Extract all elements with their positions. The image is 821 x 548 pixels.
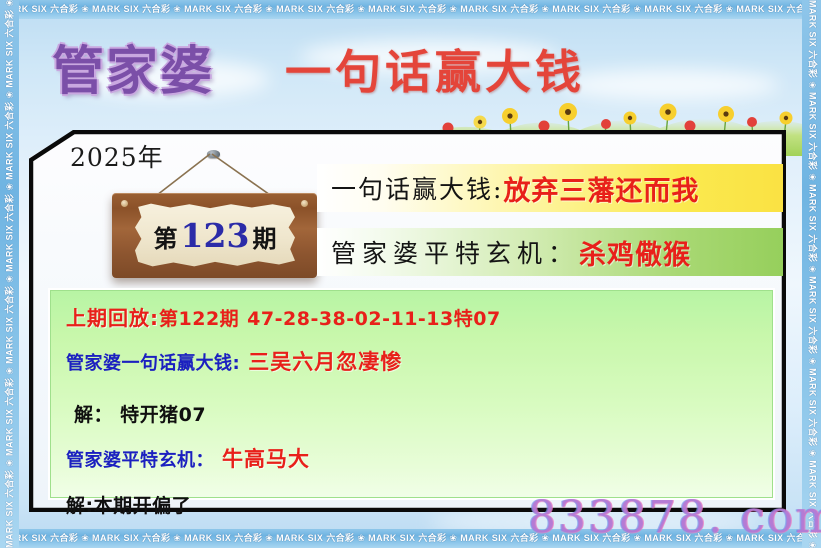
- border-text: MARK SIX 六合彩 ❀ MARK SIX 六合彩 ❀ MARK SIX 六…: [0, 0, 19, 548]
- xuanji-row: 管家婆平特玄机： 牛高马大: [66, 443, 773, 473]
- issue-number-label: 第123期: [154, 219, 277, 252]
- border-strip-left: MARK SIX 六合彩 ❀ MARK SIX 六合彩 ❀ MARK SIX 六…: [0, 0, 19, 548]
- sign-paper: 第123期: [135, 203, 295, 267]
- phrase-label: 管家婆一句话赢大钱:: [66, 349, 240, 375]
- issue-prefix: 第: [154, 224, 178, 253]
- border-text: MARK SIX 六合彩 ❀ MARK SIX 六合彩 ❀ MARK SIX 六…: [802, 0, 821, 548]
- issue-number: 123: [178, 216, 253, 255]
- border-text: MARK SIX 六合彩 ❀ MARK SIX 六合彩 ❀ MARK SIX 六…: [0, 533, 821, 543]
- solution-1-text: 解： 特开猪07: [74, 400, 206, 427]
- issue-suffix: 期: [252, 224, 276, 253]
- banner-green-label: 管家婆平特玄机：: [331, 234, 579, 270]
- recap-issue: 第122期: [159, 304, 239, 331]
- poster-root: MARK SIX 六合彩 ❀ MARK SIX 六合彩 ❀ MARK SIX 六…: [0, 0, 821, 548]
- solution-2-text: 解:本期开偏了: [66, 491, 191, 518]
- cloud-decoration: [560, 70, 780, 100]
- previous-results-box: 上期回放: 第122期 47-28-38-02-11-13 特 07 管家婆一句…: [48, 288, 775, 500]
- recap-special-number: 07: [473, 308, 500, 330]
- banner-phrase-of-the-day: 一句话赢大钱: 放弃三藩还而我: [317, 164, 783, 212]
- banner-green-answer: 杀鸡儆猴: [579, 233, 691, 272]
- brand-title: 管家婆: [52, 29, 214, 104]
- sign-hole-left-icon: [121, 200, 128, 207]
- wooden-sign: 第123期: [112, 193, 317, 278]
- banner-yellow-label: 一句话赢大钱:: [331, 170, 503, 206]
- recap-row: 上期回放: 第122期 47-28-38-02-11-13 特 07: [66, 302, 773, 331]
- solution-row-1: 解： 特开猪07: [66, 400, 773, 427]
- phrase-row: 管家婆一句话赢大钱: 三吴六月忽凄惨: [66, 346, 773, 376]
- banner-pingte-xuanji: 管家婆平特玄机： 杀鸡儆猴: [317, 228, 783, 276]
- border-strip-top: MARK SIX 六合彩 ❀ MARK SIX 六合彩 ❀ MARK SIX 六…: [0, 0, 821, 19]
- border-strip-bottom: MARK SIX 六合彩 ❀ MARK SIX 六合彩 ❀ MARK SIX 六…: [0, 529, 821, 548]
- phrase-value: 三吴六月忽凄惨: [248, 346, 402, 376]
- solution-row-2: 解:本期开偏了: [66, 491, 773, 518]
- recap-label: 上期回放:: [66, 302, 159, 331]
- sign-hole-right-icon: [301, 200, 308, 207]
- xuanji-value: 牛高马大: [222, 443, 310, 473]
- border-strip-right: MARK SIX 六合彩 ❀ MARK SIX 六合彩 ❀ MARK SIX 六…: [802, 0, 821, 548]
- xuanji-label: 管家婆平特玄机：: [66, 446, 214, 472]
- recap-special-label: 特: [454, 304, 474, 331]
- recap-numbers: 47-28-38-02-11-13: [247, 308, 454, 330]
- slogan-title: 一句话赢大钱: [285, 36, 585, 102]
- border-text: MARK SIX 六合彩 ❀ MARK SIX 六合彩 ❀ MARK SIX 六…: [0, 4, 821, 14]
- banner-yellow-answer: 放弃三藩还而我: [503, 169, 699, 208]
